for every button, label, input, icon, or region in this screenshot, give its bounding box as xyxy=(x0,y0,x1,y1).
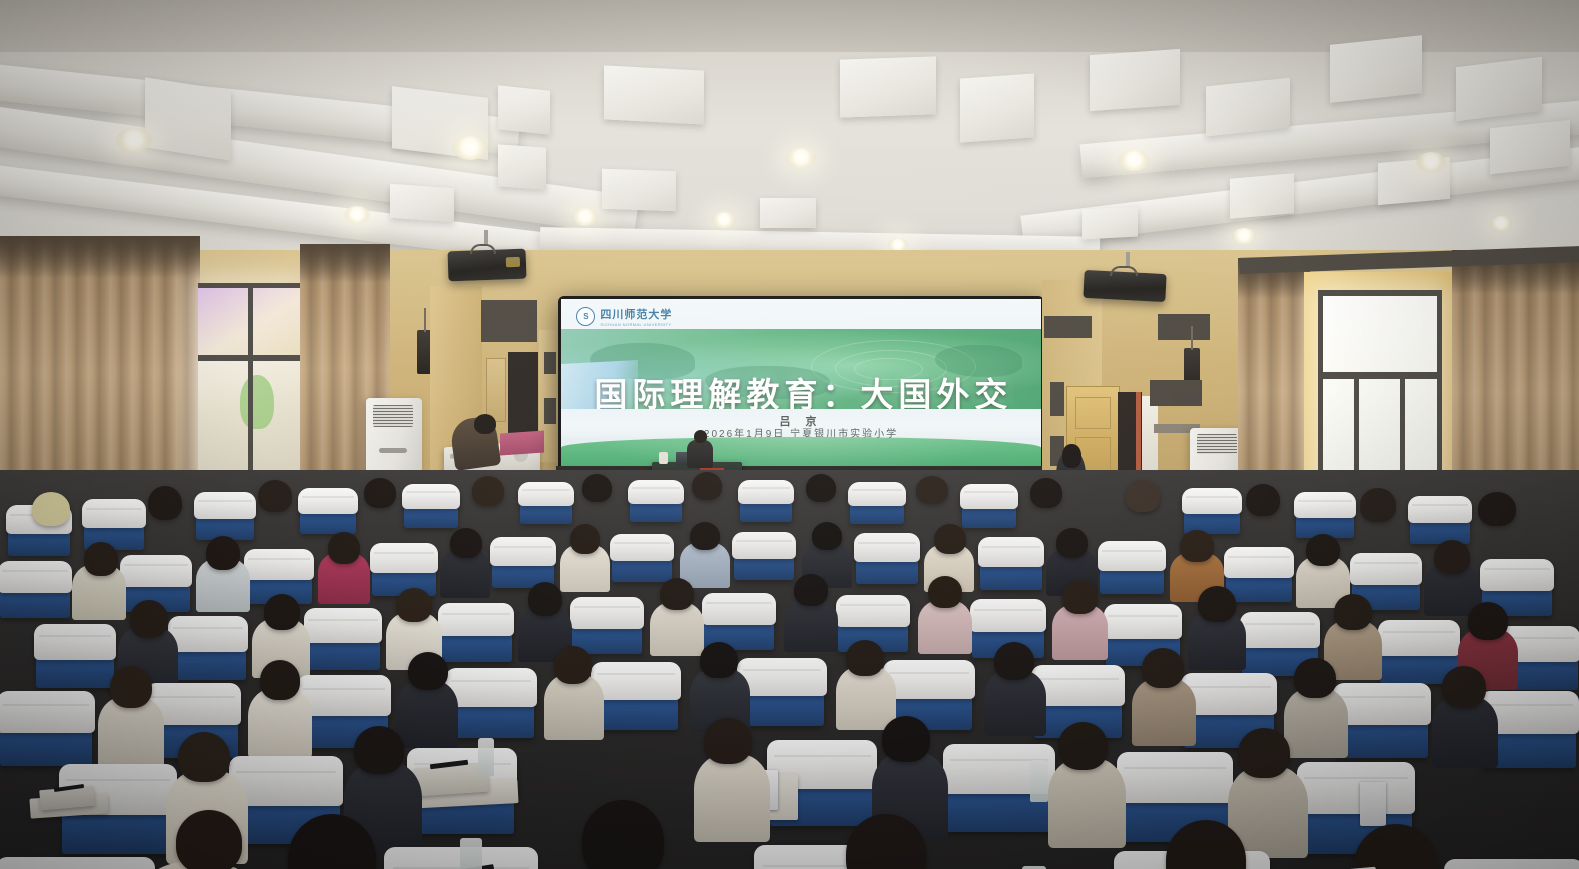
chair xyxy=(520,486,572,524)
ceiling-downlight xyxy=(712,212,736,228)
chair xyxy=(1184,492,1240,534)
attendee-head xyxy=(554,646,592,684)
chair xyxy=(300,492,356,534)
attendee-head xyxy=(1468,602,1508,640)
ceiling-downlight xyxy=(1416,152,1446,172)
door-panel-left xyxy=(486,358,506,422)
chair xyxy=(612,538,672,582)
ceiling-panel xyxy=(1230,173,1294,219)
attendee-head xyxy=(806,474,836,502)
attendee-head xyxy=(882,716,930,762)
ceiling-panel xyxy=(498,85,550,134)
chair-cover xyxy=(610,534,674,561)
attendee-head xyxy=(1246,484,1280,516)
ceiling-panel xyxy=(602,169,676,212)
chair-cover xyxy=(1294,492,1355,518)
chair-cover xyxy=(370,543,438,573)
attendee-head xyxy=(408,652,448,690)
attendee-head xyxy=(1360,488,1396,522)
attendee-head xyxy=(32,492,70,526)
attendee-head xyxy=(794,574,828,606)
ceiling-downlight xyxy=(572,208,598,226)
attendee-head xyxy=(994,642,1034,680)
chair-cover xyxy=(1480,559,1554,591)
ceiling-panel xyxy=(145,77,231,161)
chair xyxy=(440,608,512,662)
acoustic-panel xyxy=(481,300,537,342)
chair xyxy=(196,496,254,540)
attendee-head xyxy=(928,576,962,608)
ceiling-downlight xyxy=(344,206,370,224)
chair-cover xyxy=(0,561,72,593)
chair-cover xyxy=(244,549,314,580)
ceiling-panel xyxy=(604,65,704,124)
chair-cover xyxy=(490,537,556,566)
chair-cover xyxy=(854,533,920,562)
attendee-head xyxy=(690,522,720,550)
chair-cover xyxy=(570,597,644,629)
water-bottle xyxy=(460,838,482,869)
ceiling-panel xyxy=(390,184,454,222)
chair xyxy=(734,536,794,580)
chair-cover xyxy=(304,608,382,643)
speaker-bracket xyxy=(1191,326,1193,350)
chair xyxy=(740,664,824,726)
presenter-head xyxy=(694,430,707,443)
window-foliage xyxy=(240,375,274,429)
door-panel xyxy=(1075,397,1111,429)
attendee-head xyxy=(1142,648,1184,688)
ceiling-downlight xyxy=(1232,228,1256,244)
chair-cover xyxy=(194,492,255,519)
attendee-head xyxy=(692,472,722,500)
acoustic-panel-small xyxy=(544,398,556,424)
projector-cable xyxy=(470,244,496,254)
attendee-head xyxy=(130,600,168,638)
attendee-head xyxy=(582,800,664,869)
university-name-latin: SICHUAN NORMAL UNIVERSITY xyxy=(600,322,672,327)
curtain-shadow xyxy=(300,244,390,282)
attendee-head xyxy=(700,642,738,678)
ceiling-panel xyxy=(1330,35,1422,103)
chair-cover xyxy=(1224,547,1294,578)
chair xyxy=(404,488,458,528)
window-mullion xyxy=(248,283,253,483)
ac-grille xyxy=(1197,434,1237,454)
attendee-head xyxy=(260,660,300,700)
chair xyxy=(306,614,380,670)
chair xyxy=(1226,552,1292,602)
university-name: 四川师范大学 xyxy=(600,309,672,321)
acoustic-panel-small xyxy=(1050,382,1064,416)
attendee-head xyxy=(364,478,396,508)
attendee-head xyxy=(1062,580,1098,614)
chair-cover xyxy=(1182,488,1241,514)
attendee-head xyxy=(660,578,694,610)
chair xyxy=(856,538,918,584)
chair-cover xyxy=(402,484,459,509)
attendee-head xyxy=(528,582,562,616)
window-mullion xyxy=(1318,372,1442,379)
attendee-head xyxy=(176,810,242,869)
chair xyxy=(170,622,246,680)
chair-cover xyxy=(591,662,680,700)
chair-cover xyxy=(1444,859,1579,869)
chair xyxy=(448,674,534,738)
chair xyxy=(962,488,1016,528)
attendee-head xyxy=(1294,658,1336,698)
chair xyxy=(36,630,114,688)
ceiling-panel xyxy=(840,56,936,117)
attendee-head xyxy=(1056,528,1088,558)
water-bottle xyxy=(1030,760,1048,802)
water-bottle xyxy=(478,738,494,776)
smartphone xyxy=(1360,782,1386,826)
attendee-head xyxy=(264,594,300,630)
chair-cover xyxy=(960,484,1017,509)
ceiling-panel xyxy=(760,198,816,228)
attendee-head xyxy=(1238,728,1290,778)
slide-logo: S 四川师范大学 SICHUAN NORMAL UNIVERSITY xyxy=(576,306,672,327)
chair xyxy=(1410,500,1470,544)
curtain-shadow xyxy=(0,236,200,278)
attendee-torso xyxy=(1132,678,1196,746)
chair xyxy=(980,542,1042,590)
attendee-head xyxy=(1334,594,1372,630)
chair-cover xyxy=(1098,541,1166,571)
chair-cover xyxy=(737,658,826,696)
ceiling-panel xyxy=(1082,207,1138,240)
ceiling-downlight xyxy=(1118,150,1150,171)
attendee-head xyxy=(178,732,230,782)
chair-cover xyxy=(120,555,192,587)
chair-cover xyxy=(82,499,146,528)
lecture-hall-photo: S 四川师范大学 SICHUAN NORMAL UNIVERSITY 国际理解教… xyxy=(0,0,1579,869)
chair-cover xyxy=(518,482,573,506)
wall-trim-right xyxy=(1158,314,1210,340)
chair-cover xyxy=(1104,604,1182,639)
ceiling-panel xyxy=(1090,49,1180,111)
university-wordmark: 四川师范大学 SICHUAN NORMAL UNIVERSITY xyxy=(600,306,672,327)
chair-cover xyxy=(438,603,514,636)
chair xyxy=(850,486,904,524)
speaker-bracket xyxy=(424,308,426,332)
chair-cover xyxy=(168,616,249,652)
projector-cable xyxy=(1110,266,1138,276)
ceiling-downlight xyxy=(786,148,816,168)
audience-seating xyxy=(0,470,1579,869)
ac-grille xyxy=(373,405,413,427)
ceiling-downlight xyxy=(116,128,152,152)
projector-lens-icon xyxy=(506,257,520,267)
attendee-head xyxy=(1126,480,1160,512)
technician-head xyxy=(474,414,496,434)
presenter-body xyxy=(687,440,713,468)
attendee-head xyxy=(148,486,182,520)
ceiling-panel xyxy=(1490,120,1570,174)
attendee-head xyxy=(396,588,432,622)
chair xyxy=(630,484,682,522)
chair-cover xyxy=(702,593,776,625)
ceiling-downlight xyxy=(1490,216,1512,231)
attendee-head xyxy=(328,532,360,564)
attendee-head xyxy=(1442,666,1486,708)
attendee-head xyxy=(206,536,240,570)
attendee-head xyxy=(812,522,842,550)
attendee-head xyxy=(570,524,600,554)
attendee-head xyxy=(704,718,752,764)
chair-cover xyxy=(738,480,793,504)
chair xyxy=(572,602,642,654)
acoustic-panel xyxy=(1150,380,1202,406)
chair-cover xyxy=(836,595,910,627)
chair-cover xyxy=(1240,612,1321,648)
attendee-head xyxy=(846,640,884,676)
attendee-head xyxy=(1058,722,1108,770)
chair-cover xyxy=(0,691,95,733)
chair-cover xyxy=(628,480,683,504)
attendee-torso xyxy=(918,600,972,654)
projection-screen: S 四川师范大学 SICHUAN NORMAL UNIVERSITY 国际理解教… xyxy=(558,296,1044,488)
acoustic-panel xyxy=(1044,316,1092,338)
chair xyxy=(1296,496,1354,538)
attendee-head xyxy=(110,666,152,708)
chair-cover xyxy=(970,599,1046,632)
attendee-torso xyxy=(784,598,838,652)
chair xyxy=(1336,690,1428,758)
chair-cover xyxy=(1378,620,1461,656)
attendee-head xyxy=(1198,586,1236,622)
window-mullion xyxy=(198,355,306,361)
ceiling-panel xyxy=(1206,78,1290,137)
ceiling-panel xyxy=(960,73,1034,142)
attendee-head xyxy=(1030,478,1062,508)
chair-cover xyxy=(848,482,905,506)
attendee-head xyxy=(582,474,612,502)
ceiling-downlight xyxy=(452,136,488,160)
attendee-head xyxy=(916,476,948,504)
chair-cover xyxy=(1350,553,1422,585)
chair-cover xyxy=(732,532,796,559)
attendee-head xyxy=(84,542,118,576)
attendee-head xyxy=(258,480,292,512)
window-mullion xyxy=(1318,290,1442,296)
attendee-torso xyxy=(1284,688,1348,758)
attendee-torso xyxy=(650,602,704,656)
attendee-head xyxy=(934,524,966,554)
chair xyxy=(1100,546,1164,594)
chair-cover xyxy=(445,668,536,708)
attendee-head xyxy=(1478,492,1516,526)
chair-cover xyxy=(34,624,117,660)
ceiling-panel xyxy=(498,144,546,189)
chair-cover xyxy=(883,660,974,700)
attendee-head xyxy=(472,476,504,506)
university-emblem-icon: S xyxy=(576,307,595,326)
window-mullion xyxy=(198,283,306,288)
chair-cover xyxy=(1117,752,1234,803)
chair xyxy=(740,484,792,522)
acoustic-panel-small xyxy=(544,352,556,374)
chair-cover xyxy=(0,857,155,869)
chair xyxy=(0,698,92,766)
chair xyxy=(372,548,436,596)
chair-cover xyxy=(298,488,357,514)
attendee-head xyxy=(1180,530,1214,562)
chair-cover xyxy=(1408,496,1472,523)
slide-surface: S 四川师范大学 SICHUAN NORMAL UNIVERSITY 国际理解教… xyxy=(561,299,1041,485)
attendee-head xyxy=(354,726,404,774)
attendee-torso xyxy=(1048,758,1126,848)
attendee-head xyxy=(1434,540,1470,574)
water-cup xyxy=(659,452,668,464)
chair xyxy=(594,668,678,730)
attendee-head xyxy=(1306,534,1340,566)
attendee-torso xyxy=(396,680,458,748)
chair-cover xyxy=(1297,762,1416,814)
chair xyxy=(0,566,70,618)
chair-cover xyxy=(978,537,1044,567)
attendee-torso xyxy=(694,754,770,842)
attendee-head xyxy=(450,528,482,558)
window-left xyxy=(198,283,306,483)
ceiling-panel xyxy=(1456,57,1542,122)
ac-panel-line xyxy=(379,448,407,453)
console-equipment xyxy=(500,430,544,455)
standing-attendee-head xyxy=(1062,444,1081,468)
